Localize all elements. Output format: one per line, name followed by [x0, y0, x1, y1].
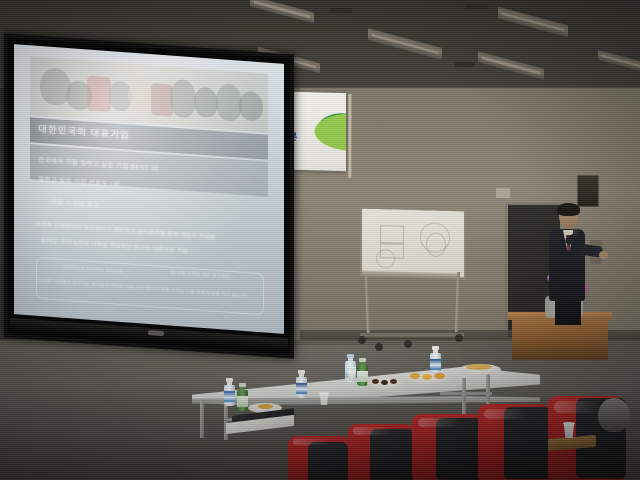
whiteboard-sketch — [426, 232, 446, 257]
plate-food — [372, 379, 379, 384]
presenter-legs — [555, 299, 581, 325]
table-leg — [200, 400, 204, 438]
seat-headrest — [308, 442, 348, 480]
auditorium-seat[interactable] — [412, 414, 482, 480]
plate-food — [258, 404, 273, 409]
seat-highlight — [293, 439, 330, 445]
plate-food — [410, 373, 420, 379]
whiteboard-caster — [358, 336, 366, 344]
wall-speaker — [577, 175, 599, 207]
seat-headrest — [370, 429, 414, 480]
cup-rim — [347, 370, 356, 373]
presenter-hand — [599, 251, 608, 259]
whiteboard-sketch — [376, 249, 395, 269]
presentation-slide: 대한민국의 대표기업 한국에서 가장 일하고 싶은 기업 BEST 30 일하고… — [14, 44, 284, 334]
plate-food — [434, 373, 445, 379]
cup-rim — [319, 392, 329, 395]
seat-headrest — [436, 418, 482, 480]
cup-rim — [563, 422, 575, 425]
auditorium-seat[interactable] — [478, 404, 550, 480]
auditorium-seat[interactable] — [288, 436, 350, 480]
slide-bullet: 높이고, 자아실현적 기회를 제공하는 최고의 대화이상 기업 — [41, 236, 188, 255]
microphone-icon — [573, 229, 578, 240]
presentation-room-photo: 수회 전략토론 한경공학대 — [0, 0, 640, 480]
seat-highlight — [554, 401, 600, 413]
slide-bullet: - 신문 스크랩 참고 — [46, 196, 99, 209]
screen-surface: 대한민국의 대표기업 한국에서 가장 일하고 싶은 기업 BEST 30 일하고… — [14, 44, 284, 334]
plate-food — [390, 379, 397, 384]
table-leg — [486, 374, 490, 408]
table-leg — [462, 378, 466, 414]
projection-screen: 대한민국의 대표기업 한국에서 가장 일하고 싶은 기업 BEST 30 일하고… — [4, 33, 294, 354]
ceiling-vent — [330, 8, 352, 13]
seat-highlight — [353, 427, 393, 435]
whiteboard-caster — [375, 343, 383, 351]
whiteboard-base — [360, 333, 464, 337]
whiteboard — [360, 207, 466, 280]
seated-attendee-head — [598, 398, 630, 432]
plate-food — [422, 374, 432, 380]
banner-pole — [348, 94, 352, 178]
table-brace — [440, 392, 492, 395]
presenter — [543, 205, 601, 323]
plate-food — [381, 380, 388, 385]
presenter-hair — [557, 203, 580, 216]
plate-food — [466, 364, 492, 370]
ceiling-vent — [455, 62, 475, 67]
wall-panel-edge — [496, 188, 510, 198]
whiteboard-caster — [455, 334, 463, 342]
banner-swoosh-logo-icon — [290, 100, 346, 164]
whiteboard-caster — [404, 340, 412, 348]
auditorium-seat[interactable] — [348, 424, 414, 480]
seat-highlight — [484, 409, 527, 420]
screen-pull-handle[interactable] — [148, 330, 164, 336]
ceiling-vent — [466, 4, 488, 9]
seat-highlight — [418, 418, 460, 427]
whiteboard-sketch — [380, 225, 404, 244]
screen-frame: 대한민국의 대표기업 한국에서 가장 일하고 싶은 기업 BEST 30 일하고… — [4, 33, 294, 358]
